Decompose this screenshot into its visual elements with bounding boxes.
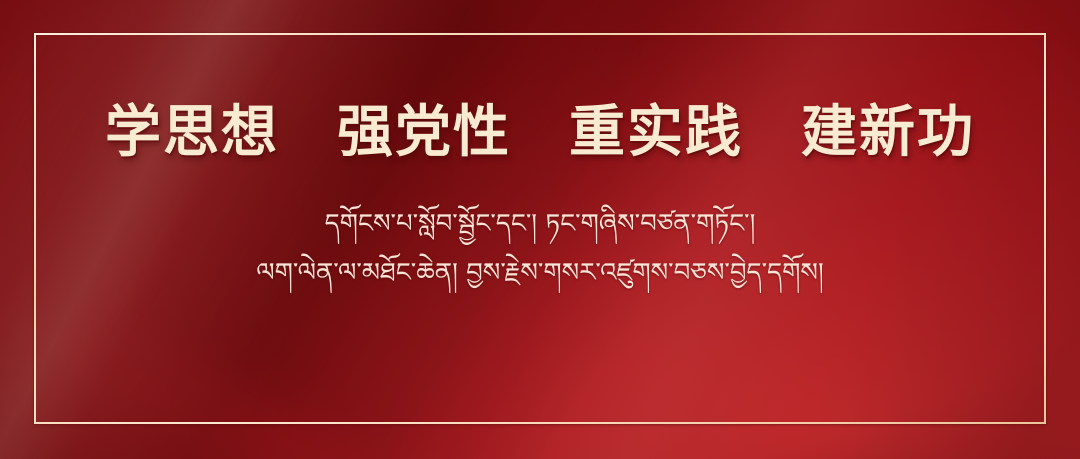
headline-slogan: 学思想 强党性 重实践 建新功	[105, 104, 975, 163]
tibetan-translation-block: དགོངས་པ་སློབ་སྦྱོང་དང་། ཏང་གཞིས་བཙན་གཏོང…	[256, 205, 823, 293]
tibetan-line-1: དགོངས་པ་སློབ་སྦྱོང་དང་། ཏང་གཞིས་བཙན་གཏོང…	[256, 205, 823, 244]
headline-segment-1: 学思想	[105, 104, 279, 163]
banner-content: 学思想 强党性 重实践 建新功 དགོངས་པ་སློབ་སྦྱོང་དང་། …	[0, 0, 1080, 459]
tibetan-line-2: ལག་ལེན་ལ་མཐོང་ཆེན། བྱས་རྗེས་གསར་འཛུགས་བཅ…	[256, 254, 823, 293]
banner-poster: 学思想 强党性 重实践 建新功 དགོངས་པ་སློབ་སྦྱོང་དང་། …	[0, 0, 1080, 459]
headline-segment-4: 建新功	[801, 104, 975, 163]
headline-segment-3: 重实践	[569, 104, 743, 163]
headline-segment-2: 强党性	[337, 104, 511, 163]
